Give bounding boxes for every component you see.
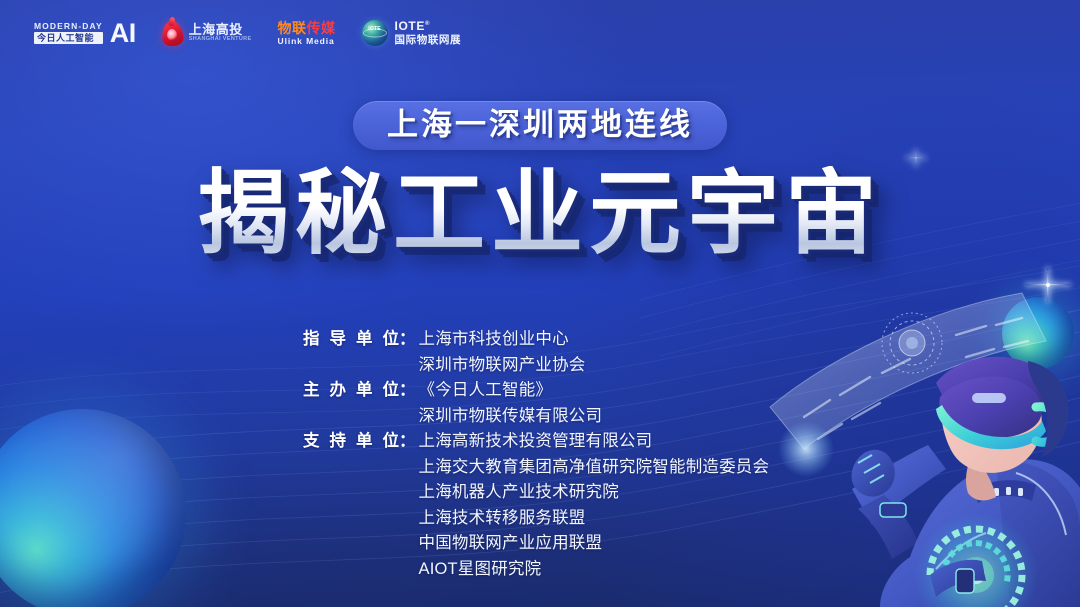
logo-iote-trademark: ®: [425, 21, 430, 27]
logo-ulink-chinese: 物联传媒: [278, 21, 336, 35]
logo-ai-mark: AI: [110, 21, 136, 45]
hand-controller: [956, 569, 974, 593]
credit-label-guidance: 指导单位: [303, 327, 399, 353]
logo-bar: MODERN-DAY 今日人工智能 AI 上海高投 SHANGHAI VENTU…: [0, 0, 1080, 66]
planet-sphere-left: [0, 409, 186, 607]
logo-gaotou-chinese: 上海高投: [189, 23, 252, 36]
credit-values-organizer: 《今日人工智能》 深圳市物联传媒有限公司: [416, 378, 603, 429]
logo-iote-english: IOTE®: [395, 20, 462, 32]
credit-item: 上海市科技创业中心: [419, 327, 586, 353]
credit-values-support: 上海高新技术投资管理有限公司 上海交大教育集团高净值研究院智能制造委员会 上海机…: [416, 429, 770, 582]
globe-badge-text: IOTE: [362, 26, 388, 32]
subtitle-text: 上海一深圳两地连线: [387, 109, 693, 140]
wrist-device: [880, 503, 906, 517]
logo-shanghai-gaotou: 上海高投 SHANGHAI VENTURE: [162, 21, 252, 46]
credit-values-guidance: 上海市科技创业中心 深圳市物联网产业协会: [416, 327, 586, 378]
logo-ulink-chinese-part1: 物联: [278, 20, 307, 36]
credits-block: 指导单位 ： 上海市科技创业中心 深圳市物联网产业协会 主办单位 ： 《今日人工…: [303, 327, 769, 582]
visor-highlight: [972, 393, 1006, 403]
credit-colon-support: ：: [399, 429, 416, 455]
logo-ulink-english: Ulink Media: [278, 37, 335, 46]
credit-row-organizer: 主办单位 ： 《今日人工智能》 深圳市物联传媒有限公司: [303, 378, 769, 429]
globe-icon: IOTE: [362, 20, 388, 46]
credit-item: 《今日人工智能》: [419, 378, 603, 404]
credit-item: AIOT星图研究院: [419, 557, 770, 583]
subtitle-pill: 上海一深圳两地连线: [353, 101, 727, 150]
credit-row-support: 支持单位 ： 上海高新技术投资管理有限公司 上海交大教育集团高净值研究院智能制造…: [303, 429, 769, 582]
credit-item: 上海机器人产业技术研究院: [419, 480, 770, 506]
credit-item: 中国物联网产业应用联盟: [419, 531, 770, 557]
credit-item: 深圳市物联网产业协会: [419, 353, 586, 379]
credit-label-organizer: 主办单位: [303, 378, 399, 404]
logo-modern-day-english: MODERN-DAY: [34, 22, 103, 31]
credit-item: 上海交大教育集团高净值研究院智能制造委员会: [419, 455, 770, 481]
credit-row-guidance: 指导单位 ： 上海市科技创业中心 深圳市物联网产业协会: [303, 327, 769, 378]
logo-modern-day-ai: MODERN-DAY 今日人工智能 AI: [34, 21, 136, 45]
logo-iote-name: IOTE: [395, 19, 425, 33]
credit-colon-organizer: ：: [399, 378, 416, 404]
flame-icon: [161, 20, 184, 47]
logo-iote: IOTE IOTE® 国际物联网展: [362, 20, 462, 46]
star-sparkle-small: [906, 150, 926, 166]
vr-user-illustration: [760, 257, 1080, 607]
logo-ulink-media: 物联传媒 Ulink Media: [278, 21, 336, 46]
poster-canvas: MODERN-DAY 今日人工智能 AI 上海高投 SHANGHAI VENTU…: [0, 0, 1080, 607]
logo-gaotou-english: SHANGHAI VENTURE: [189, 37, 252, 43]
credit-colon-guidance: ：: [399, 327, 416, 353]
logo-ulink-chinese-part2: 传媒: [307, 20, 336, 36]
credit-item: 深圳市物联传媒有限公司: [419, 404, 603, 430]
hologram-orb: [778, 421, 834, 477]
page-title: 揭秘工业元宇宙: [197, 166, 883, 263]
page-title-text: 揭秘工业元宇宙: [197, 166, 883, 263]
logo-modern-day-chinese: 今日人工智能: [34, 32, 103, 44]
credit-item: 上海高新技术投资管理有限公司: [419, 429, 770, 455]
logo-iote-chinese: 国际物联网展: [395, 35, 462, 46]
credit-item: 上海技术转移服务联盟: [419, 506, 770, 532]
credit-label-support: 支持单位: [303, 429, 399, 455]
